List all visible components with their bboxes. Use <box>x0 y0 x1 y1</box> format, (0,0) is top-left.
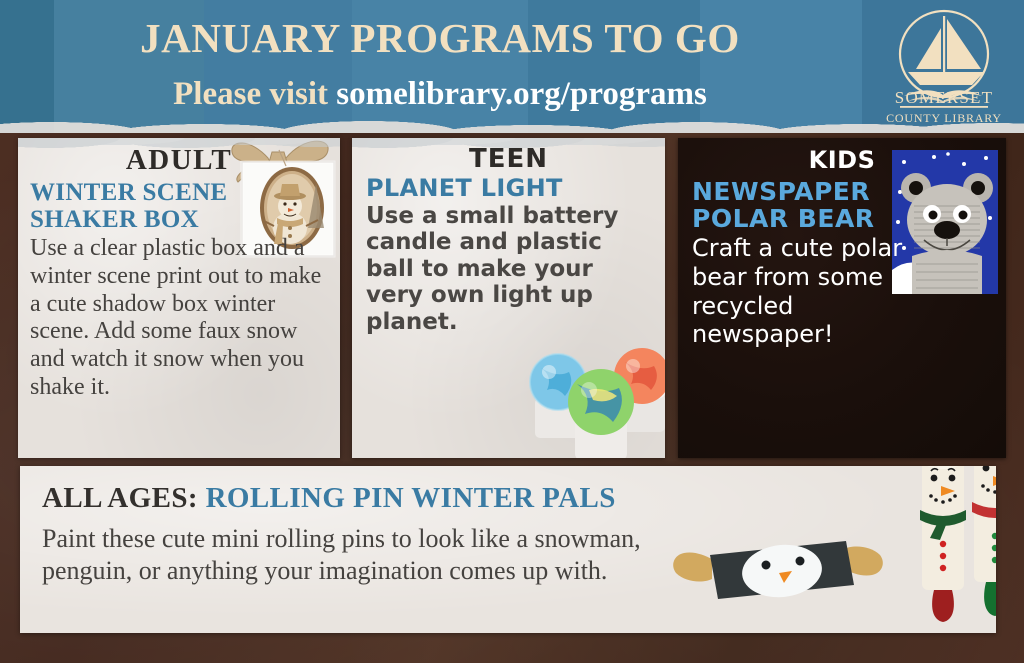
snowman-rolling-pins-image <box>900 466 996 628</box>
banner-age-label: ALL AGES: <box>42 482 198 514</box>
library-website-url[interactable]: somelibrary.org/programs <box>336 76 707 112</box>
program-description-teen: Use a small battery candle and plastic b… <box>366 203 656 335</box>
logo-library-name: SOMERSET <box>880 88 1008 108</box>
banner-description: Paint these cute mini rolling pins to lo… <box>42 523 662 586</box>
program-title-adult-line2: SHAKER BOX <box>30 206 340 233</box>
program-title-teen: PLANET LIGHT <box>366 176 665 202</box>
page-title: JANUARY PROGRAMS TO GO <box>0 14 880 62</box>
logo-library-sub: COUNTY LIBRARY <box>880 111 1008 126</box>
category-label-kids: KIDS <box>678 146 1006 174</box>
flyer-canvas: JANUARY PROGRAMS TO GO Please visit some… <box>0 0 1024 663</box>
banner-program-title: ROLLING PIN WINTER PALS <box>198 482 616 514</box>
subtitle-prefix: Please visit <box>173 76 336 112</box>
program-panel-adult: ADULT WINTER SCENE SHAKER BOX Use a clea… <box>18 138 340 458</box>
program-panel-teen: TEEN PLANET LIGHT Use a small battery ca… <box>352 138 665 458</box>
program-title-kids-line2: POLAR BEAR <box>692 205 1006 232</box>
program-title-kids-line1: NEWSPAPER <box>692 178 1006 205</box>
penguin-rolling-pin-image <box>668 521 888 607</box>
program-title-adult-line1: WINTER SCENE <box>30 179 340 206</box>
all-ages-banner: ALL AGES: ROLLING PIN WINTER PALS Paint … <box>20 466 996 633</box>
banner-heading: ALL AGES: ROLLING PIN WINTER PALS <box>42 482 996 515</box>
program-description-kids: Craft a cute polar bear from some recycl… <box>692 234 932 349</box>
header-banner: JANUARY PROGRAMS TO GO Please visit some… <box>0 0 1024 133</box>
program-title-kids: NEWSPAPER POLAR BEAR <box>692 178 1006 232</box>
category-label-adult: ADULT <box>18 144 340 177</box>
glowing-planet-lights-image <box>523 324 665 458</box>
category-label-teen: TEEN <box>352 144 665 174</box>
library-logo: SOMERSET COUNTY LIBRARY <box>880 6 1008 130</box>
program-title-adult: WINTER SCENE SHAKER BOX <box>30 179 340 233</box>
program-panel-kids: KIDS NEWSPAPER POLAR BEAR Craft a cute p… <box>678 138 1006 458</box>
header-subtitle: Please visit somelibrary.org/programs <box>0 76 880 113</box>
program-description-adult: Use a clear plastic box and a winter sce… <box>30 235 330 402</box>
